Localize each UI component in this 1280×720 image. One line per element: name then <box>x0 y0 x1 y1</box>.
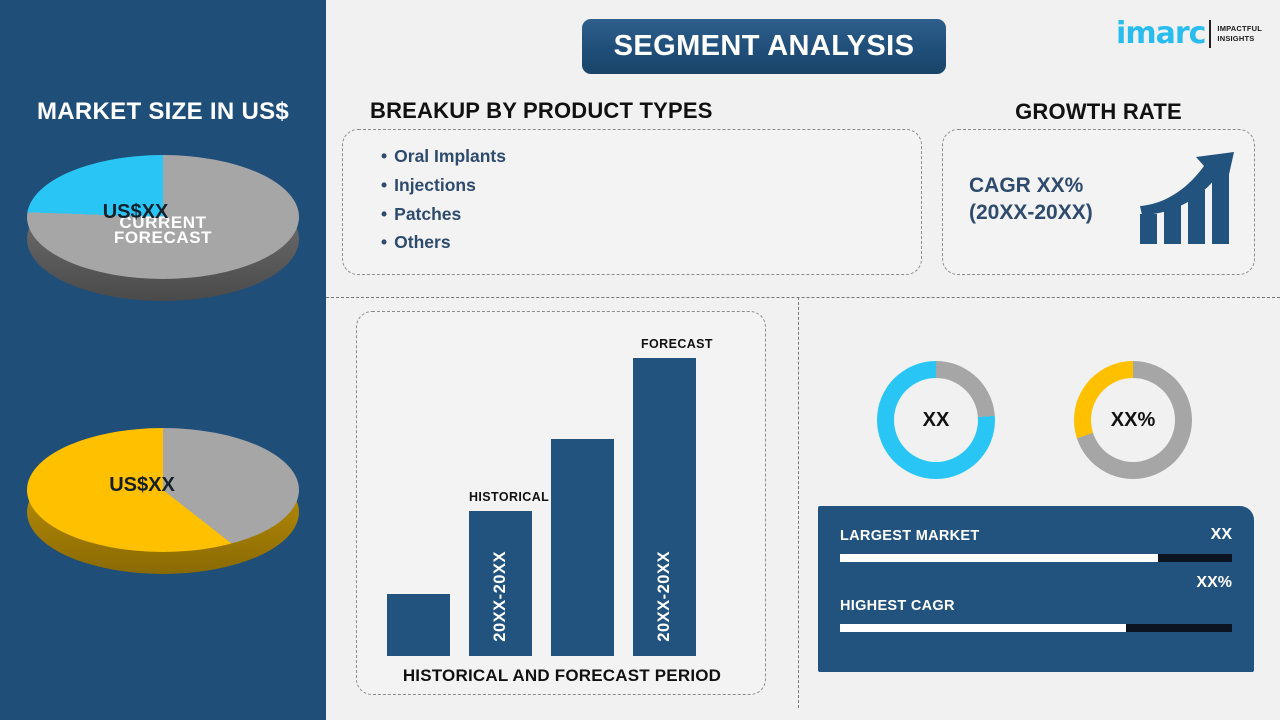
breakup-heading: BREAKUP BY PRODUCT TYPES <box>370 98 713 124</box>
list-item: •Injections <box>381 171 506 200</box>
bullet-icon: • <box>381 175 387 195</box>
bar-3: 20XX-20XX <box>633 358 696 656</box>
stat-label: LARGEST MARKET <box>840 528 980 544</box>
stat-header: LARGEST MARKET XX <box>840 528 1232 550</box>
page-title: SEGMENT ANALYSIS <box>614 30 915 63</box>
list-item: •Oral Implants <box>381 142 506 171</box>
list-item-label: Others <box>394 232 450 252</box>
market-size-sidebar: MARKET SIZE IN US$ US$XX CURRENT US$XX F… <box>0 0 326 720</box>
product-types-list: •Oral Implants •Injections •Patches •Oth… <box>381 142 506 257</box>
cagr-line-2: (20XX-20XX) <box>969 199 1093 226</box>
bullet-icon: • <box>381 232 387 252</box>
bar-1: 20XX-20XX <box>469 511 532 656</box>
stat-progress-fill <box>840 554 1158 562</box>
stat-progress-track <box>840 624 1232 632</box>
sidebar-title: MARKET SIZE IN US$ <box>0 98 326 126</box>
donut-share-value: XX% <box>1111 409 1155 432</box>
donut-share-hole: XX% <box>1091 378 1175 462</box>
list-item: •Patches <box>381 200 506 229</box>
cagr-text: CAGR XX% (20XX-20XX) <box>969 172 1093 226</box>
growth-arrow-icon <box>1138 144 1242 255</box>
growth-rate-box: CAGR XX% (20XX-20XX) <box>942 129 1255 275</box>
breakup-box: •Oral Implants •Injections •Patches •Oth… <box>342 129 922 275</box>
stat-row: LARGEST MARKET XX <box>840 528 1232 562</box>
bar-chart-xlabel: HISTORICAL AND FORECAST PERIOD <box>357 666 767 686</box>
cagr-line-1: CAGR XX% <box>969 172 1093 199</box>
stat-progress-fill <box>840 624 1126 632</box>
pie-forecast-value: US$XX <box>27 474 299 497</box>
donut-chart-units: XX <box>877 361 995 479</box>
stat-progress-track <box>840 554 1232 562</box>
pie-current-value: US$XX <box>27 201 299 224</box>
logo-tagline-line2: INSIGHTS <box>1217 34 1254 43</box>
pie-chart-forecast: US$XX <box>0 428 326 583</box>
stat-label: HIGHEST CAGR <box>840 598 955 614</box>
bar-2 <box>551 439 614 656</box>
bar-annotation-forecast: FORECAST <box>641 337 713 351</box>
imarc-logo: imarc IMPACTFUL INSIGHTS <box>1116 14 1262 54</box>
logo-tagline-line1: IMPACTFUL <box>1217 24 1262 33</box>
logo-tagline: IMPACTFUL INSIGHTS <box>1217 24 1262 44</box>
market-stats-panel: LARGEST MARKET XX HIGHEST CAGR XX% <box>818 506 1254 672</box>
bullet-icon: • <box>381 204 387 224</box>
list-item-label: Oral Implants <box>394 146 506 166</box>
list-item-label: Injections <box>394 175 476 195</box>
bar-annotation-historical: HISTORICAL <box>469 490 549 504</box>
bullet-icon: • <box>381 146 387 166</box>
stat-value: XX% <box>1196 574 1232 592</box>
pie-forecast-caption: FORECAST <box>0 228 326 248</box>
stat-header: HIGHEST CAGR XX% <box>840 598 1232 620</box>
infographic-page: MARKET SIZE IN US$ US$XX CURRENT US$XX F… <box>0 0 1280 720</box>
list-item: •Others <box>381 228 506 257</box>
logo-wordmark: imarc <box>1116 19 1205 49</box>
bar-1-label: 20XX-20XX <box>491 551 510 642</box>
logo-divider <box>1209 20 1211 48</box>
bar-0 <box>387 594 450 656</box>
page-title-banner: SEGMENT ANALYSIS <box>582 19 946 74</box>
bar-3-label: 20XX-20XX <box>655 551 674 642</box>
donut-units-value: XX <box>923 409 950 432</box>
stat-value: XX <box>1211 526 1232 544</box>
main-content: SEGMENT ANALYSIS imarc IMPACTFUL INSIGHT… <box>326 0 1280 720</box>
historical-forecast-bar-chart: HISTORICAL 20XX-20XX FORECAST 20XX-20XX … <box>356 311 766 695</box>
vertical-divider <box>798 297 799 708</box>
stat-row: HIGHEST CAGR XX% <box>840 598 1232 632</box>
horizontal-divider <box>326 297 1280 298</box>
donut-chart-share: XX% <box>1074 361 1192 479</box>
bar-chart-plot: HISTORICAL 20XX-20XX FORECAST 20XX-20XX … <box>357 312 767 696</box>
growth-rate-heading: GROWTH RATE <box>942 99 1255 125</box>
list-item-label: Patches <box>394 204 461 224</box>
donut-units-hole: XX <box>894 378 978 462</box>
